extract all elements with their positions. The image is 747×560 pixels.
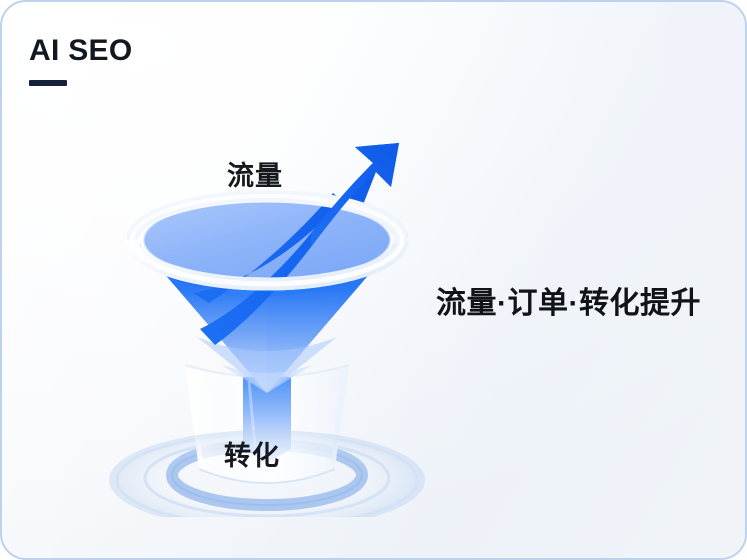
- slide-card: AI SEO 流量·订单·转化提升 流量 转化: [0, 0, 747, 560]
- page-title: AI SEO: [29, 36, 133, 66]
- title-block: AI SEO: [29, 36, 133, 86]
- funnel-label-conversion: 转化: [224, 434, 280, 473]
- title-underline: [29, 80, 67, 86]
- tagline-text: 流量·订单·转化提升: [436, 278, 701, 322]
- funnel-label-traffic: 流量: [227, 154, 283, 193]
